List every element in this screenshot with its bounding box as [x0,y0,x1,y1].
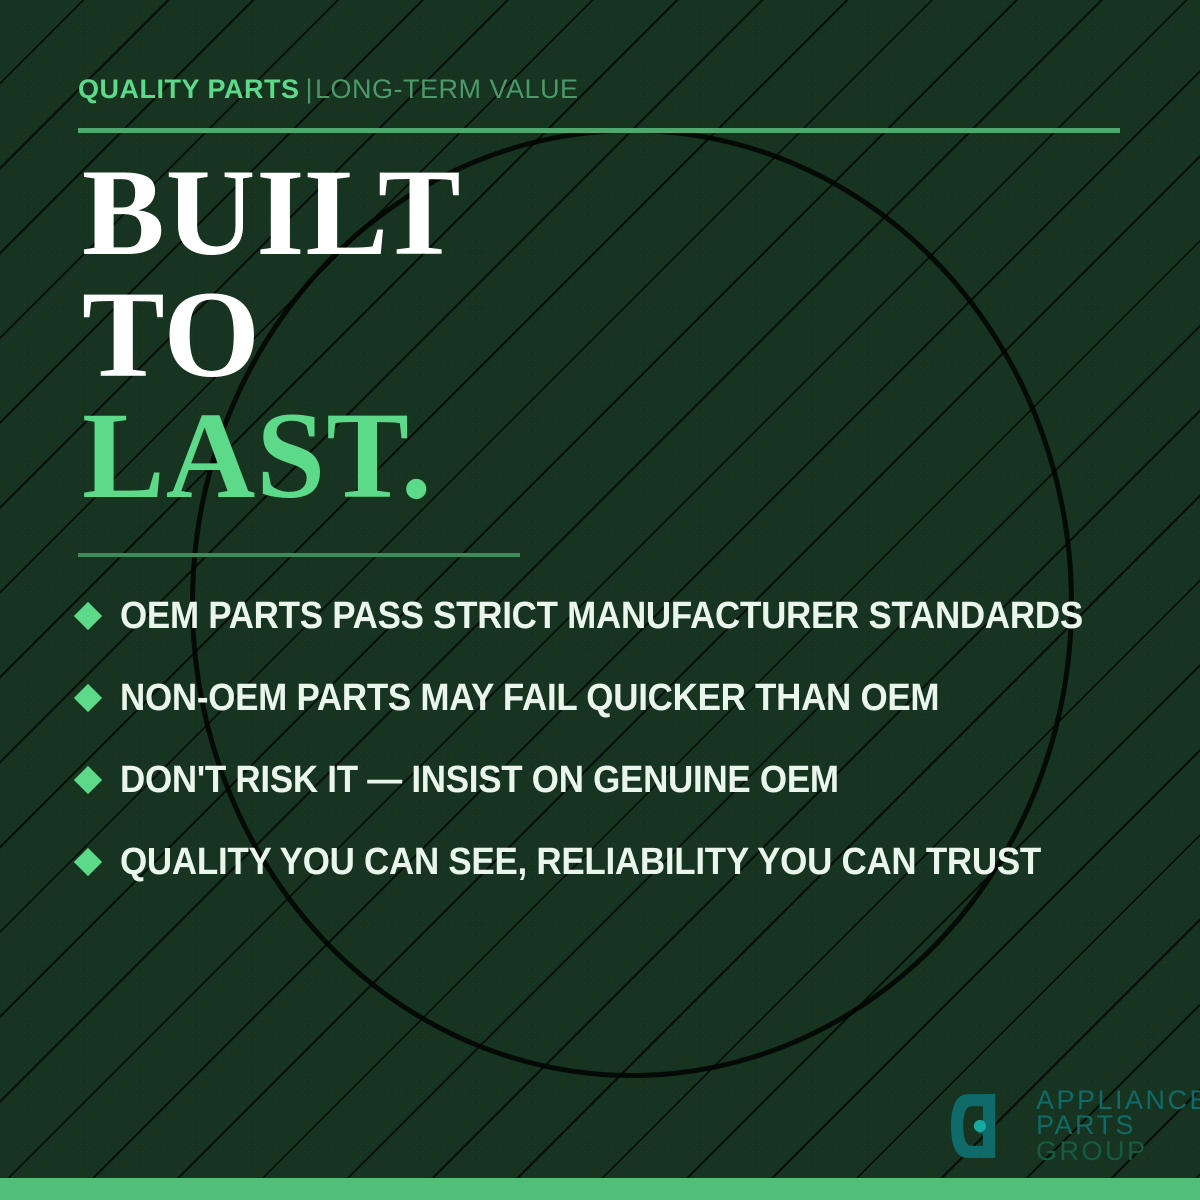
headline-block: BUILT TO LAST. [82,152,462,517]
headline-line-3: LAST. [82,395,462,517]
list-item-label: DON'T RISK IT — INSIST ON GENUINE OEM [120,759,839,802]
header-divider-rule [78,128,1120,133]
eyebrow-separator: | [306,74,314,104]
logo-wordmark: APPLIANCE PARTS GROUP [1036,1088,1200,1164]
list-item: QUALITY YOU CAN SEE, RELIABILITY YOU CAN… [78,832,1148,892]
benefit-list: OEM PARTS PASS STRICT MANUFACTURER STAND… [78,586,1148,914]
list-item-label: QUALITY YOU CAN SEE, RELIABILITY YOU CAN… [120,841,1041,884]
logo-line-2: PARTS [1036,1113,1200,1138]
headline-divider-rule [78,553,520,557]
diamond-bullet-icon [74,848,102,876]
list-item-label: OEM PARTS PASS STRICT MANUFACTURER STAND… [120,595,1083,638]
list-item: NON-OEM PARTS MAY FAIL QUICKER THAN OEM [78,668,1148,728]
list-item: DON'T RISK IT — INSIST ON GENUINE OEM [78,750,1148,810]
list-item: OEM PARTS PASS STRICT MANUFACTURER STAND… [78,586,1148,646]
headline-line-1: BUILT [82,152,462,274]
diamond-bullet-icon [74,684,102,712]
diamond-bullet-icon [74,602,102,630]
list-item-label: NON-OEM PARTS MAY FAIL QUICKER THAN OEM [120,677,939,720]
g-monogram-icon [948,1088,1024,1164]
brand-logo: APPLIANCE PARTS GROUP [948,1088,1200,1164]
headline-line-2: TO [82,274,462,396]
diamond-bullet-icon [74,766,102,794]
poster-canvas: QUALITY PARTS|LONG-TERM VALUE BUILT TO L… [0,0,1200,1200]
eyebrow-kicker: QUALITY PARTS|LONG-TERM VALUE [78,74,579,105]
eyebrow-strong-text: QUALITY PARTS [78,74,300,104]
bottom-accent-bar [0,1178,1200,1200]
eyebrow-light-text: LONG-TERM VALUE [315,74,579,104]
logo-line-3: GROUP [1036,1139,1200,1164]
